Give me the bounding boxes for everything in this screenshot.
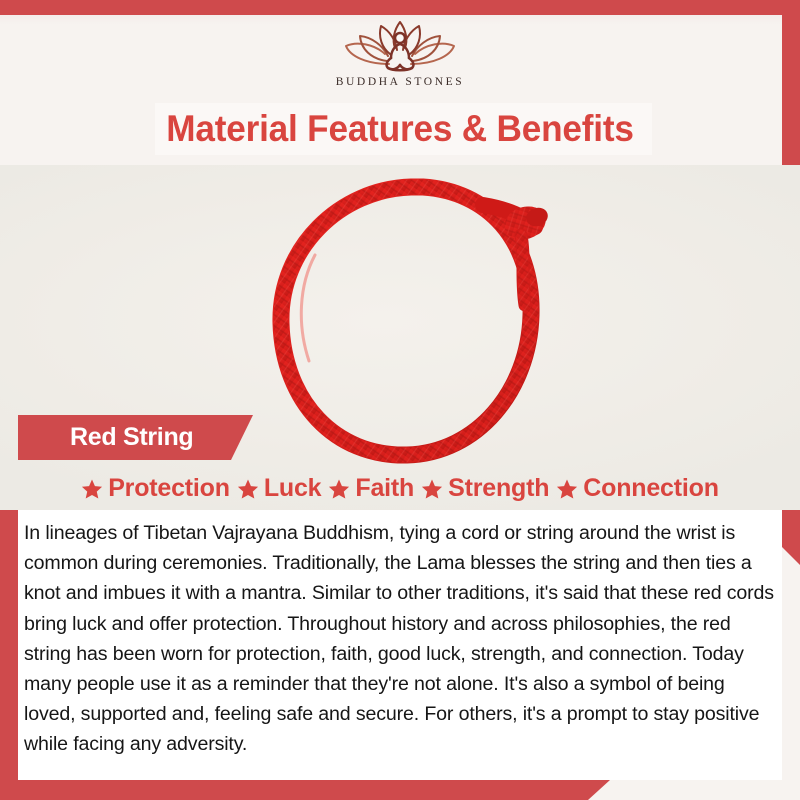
description-panel: In lineages of Tibetan Vajrayana Buddhis… (18, 510, 782, 780)
benefit-label: Protection (108, 474, 230, 503)
page-title: Material Features & Benefits (20, 104, 780, 154)
frame-bottom-bar (0, 780, 610, 800)
brand-name: BUDDHA STONES (336, 76, 464, 88)
frame-top-bar (0, 0, 800, 15)
description-text: In lineages of Tibetan Vajrayana Buddhis… (24, 518, 776, 760)
star-icon (421, 478, 443, 500)
benefit-item: Strength (421, 474, 549, 503)
benefit-label: Strength (448, 474, 549, 503)
benefits-row: Protection Luck Faith Strength Connectio… (0, 466, 800, 510)
benefit-item: Protection (81, 474, 230, 503)
benefit-label: Faith (355, 474, 414, 503)
star-icon (328, 478, 350, 500)
benefit-item: Luck (237, 474, 322, 503)
star-icon (81, 478, 103, 500)
lotus-meditation-icon (335, 18, 465, 74)
benefit-item: Connection (556, 474, 719, 503)
star-icon (556, 478, 578, 500)
benefit-item: Faith (328, 474, 414, 503)
infographic-page: BUDDHA STONES Material Features & Benefi… (0, 0, 800, 800)
material-label: Red String (70, 415, 193, 460)
brand-logo: BUDDHA STONES (0, 18, 800, 100)
benefit-label: Connection (583, 474, 719, 503)
star-icon (237, 478, 259, 500)
benefit-label: Luck (264, 474, 322, 503)
red-braided-string-bracelet-icon (225, 165, 595, 495)
